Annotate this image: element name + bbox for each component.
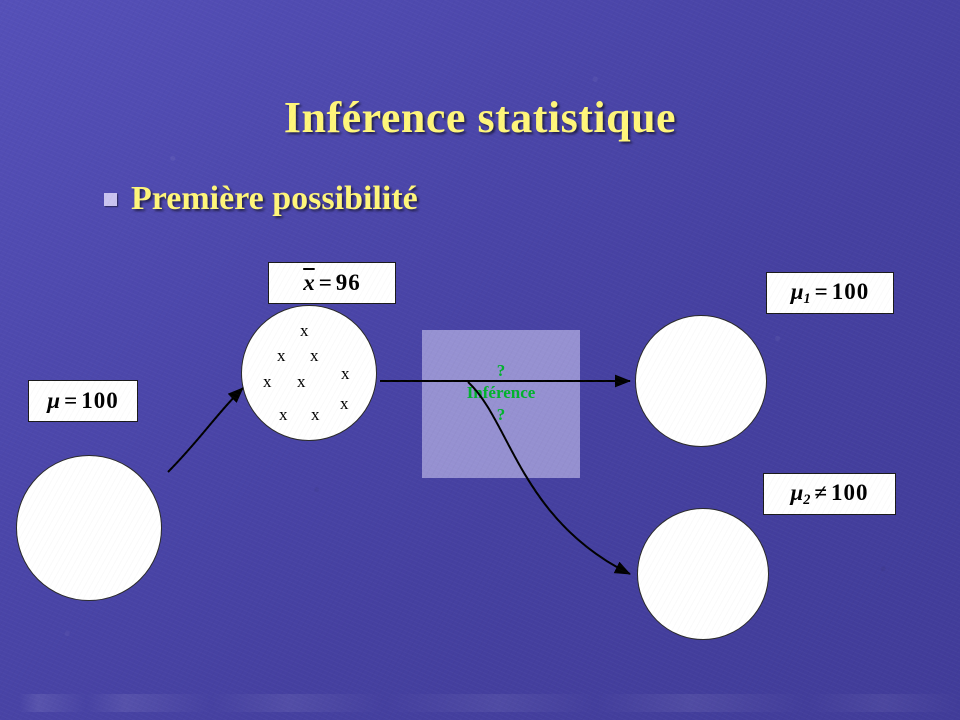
sample-point: x	[297, 373, 306, 390]
sample-point: x	[310, 347, 319, 364]
sample-point: x	[311, 406, 320, 423]
sample-point: x	[300, 322, 309, 339]
inference-line-2: Inférence	[422, 382, 580, 404]
inference-line-1: ?	[422, 360, 580, 382]
bullet-item: Première possibilité	[104, 180, 418, 218]
slide-canvas: Inférence statistique Première possibili…	[0, 0, 960, 720]
sample-point: x	[341, 365, 350, 382]
sample-point: x	[340, 395, 349, 412]
hypothesis1-circle	[635, 315, 767, 447]
bullet-item-label: Première possibilité	[131, 180, 418, 218]
sample-circle	[241, 305, 377, 441]
sample-point: x	[279, 406, 288, 423]
hypothesis2-circle	[637, 508, 769, 640]
inference-label: ? Inférence ?	[422, 360, 580, 425]
page-title: Inférence statistique	[0, 92, 960, 143]
population-mean-formula-box: μ=100	[28, 380, 138, 422]
hypothesis1-formula: μ1=100	[791, 279, 870, 308]
hypothesis1-formula-box: μ1=100	[766, 272, 894, 314]
hypothesis2-formula: μ2≠100	[790, 480, 868, 509]
bullet-marker-icon	[104, 193, 117, 206]
hypothesis2-formula-box: μ2≠100	[763, 473, 896, 515]
footer-texture	[0, 694, 960, 712]
population-mean-formula: μ=100	[47, 388, 118, 414]
population-circle	[16, 455, 162, 601]
sample-point: x	[263, 373, 272, 390]
sample-mean-formula-box: x=96	[268, 262, 396, 304]
sample-mean-formula: x=96	[303, 270, 361, 296]
sample-point: x	[277, 347, 286, 364]
arrow-population-to-sample	[168, 388, 243, 472]
inference-line-3: ?	[422, 404, 580, 426]
